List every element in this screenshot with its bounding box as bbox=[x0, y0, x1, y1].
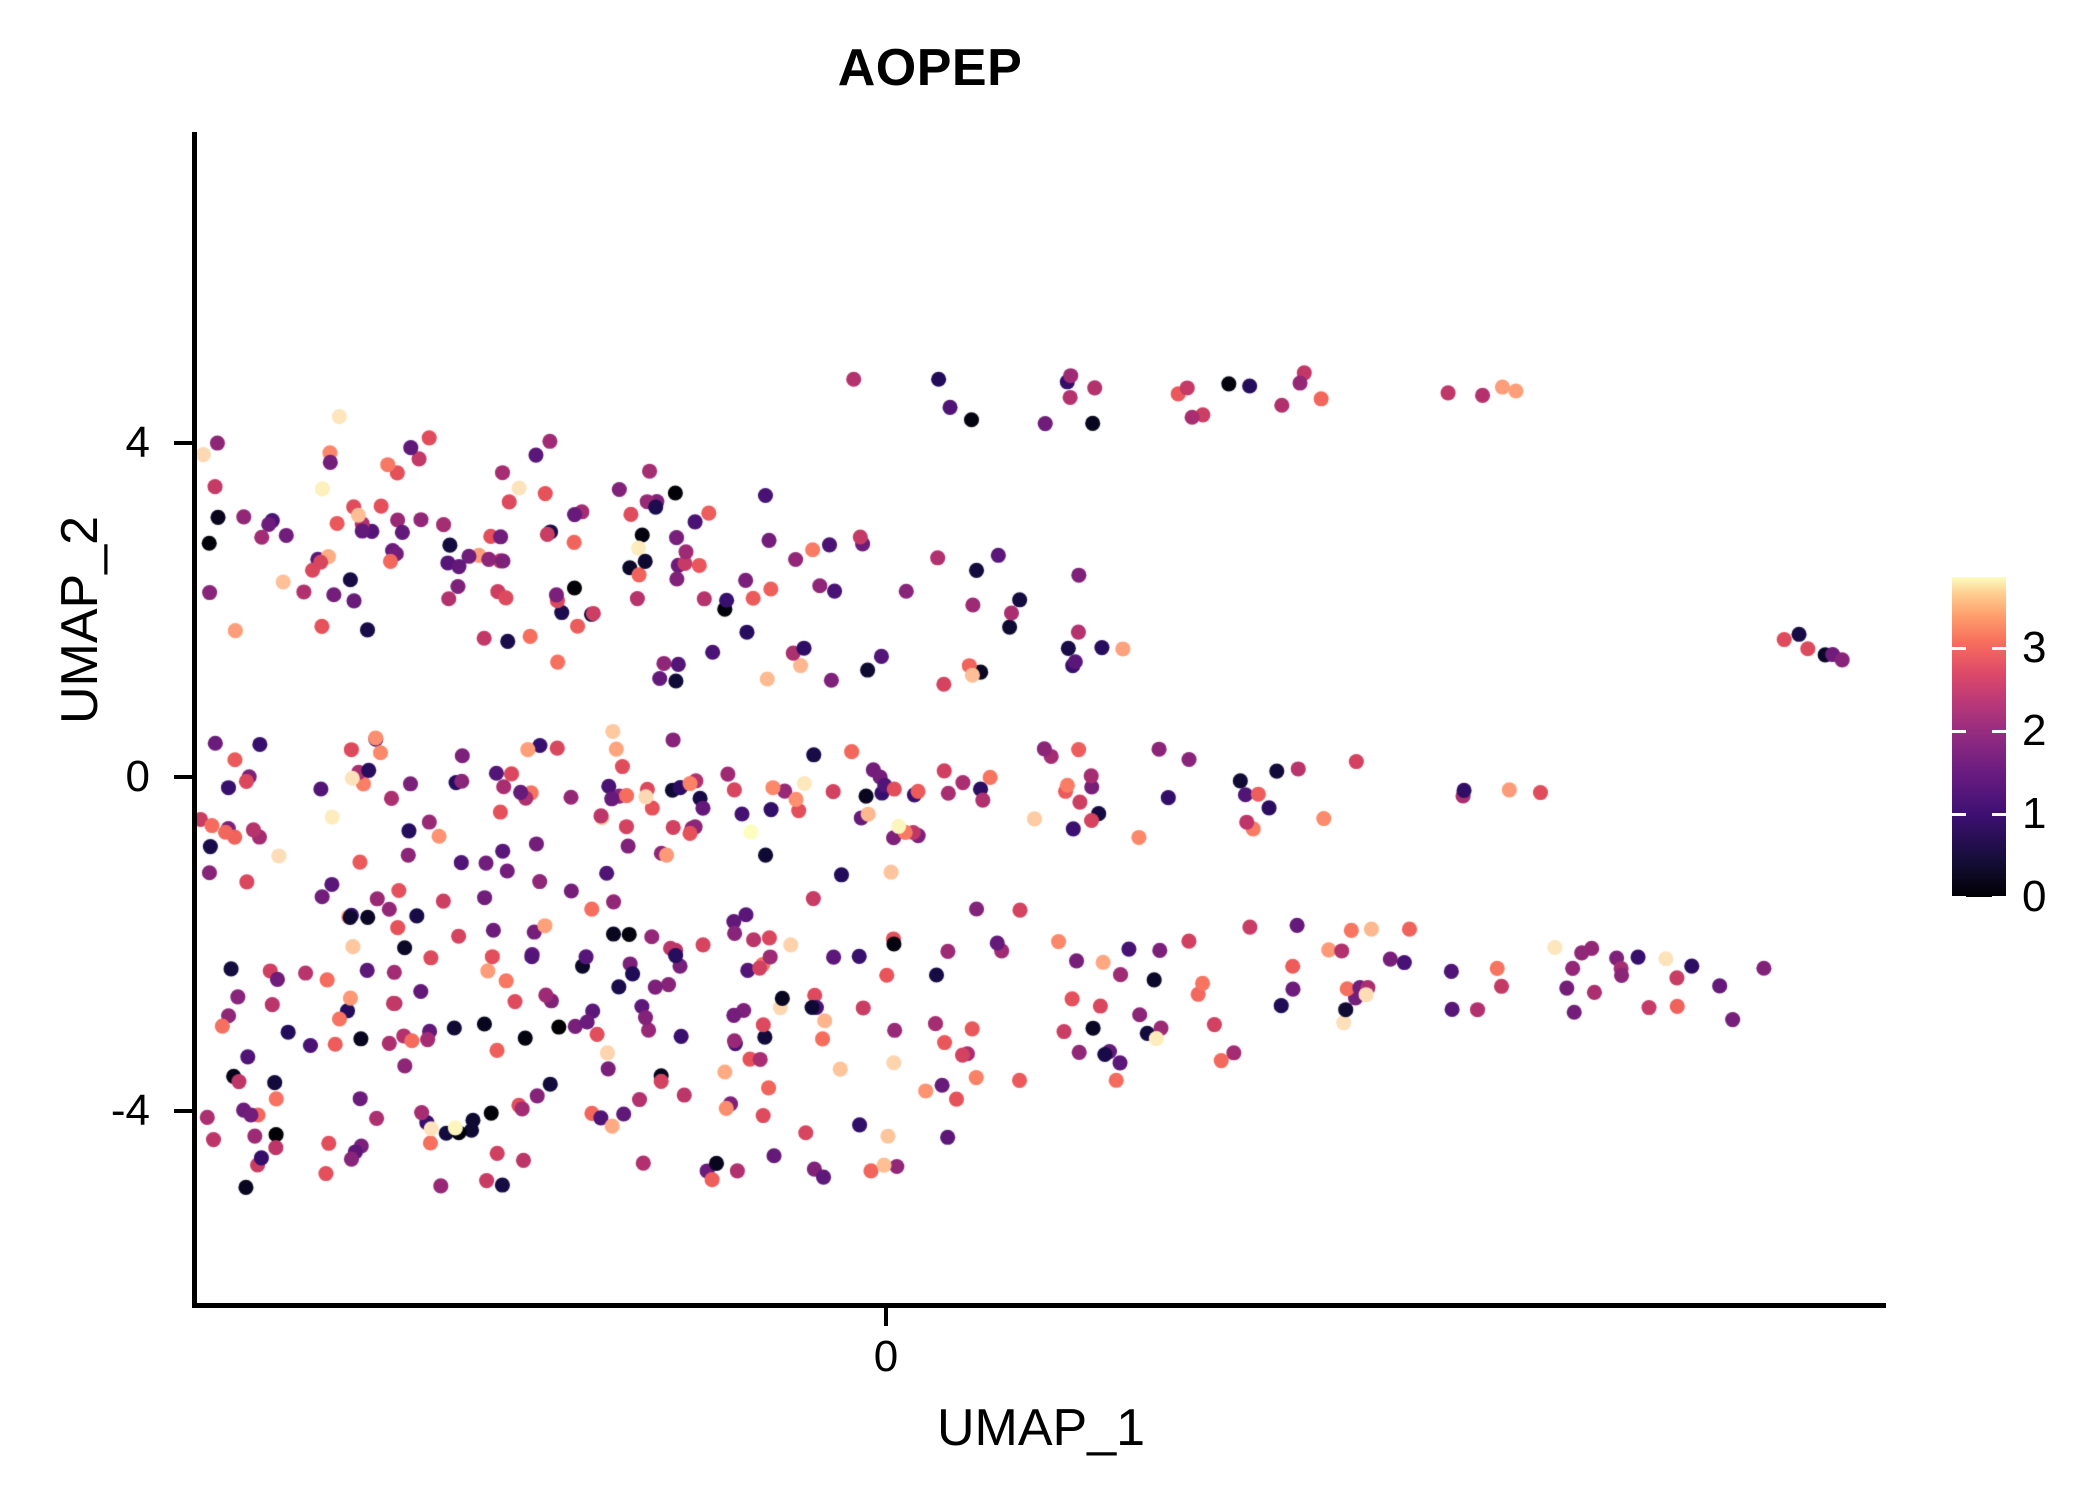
colorbar-tick-mark bbox=[1952, 813, 1966, 816]
y-axis-title: UMAP_2 bbox=[50, 240, 110, 1000]
colorbar-tick-mark bbox=[1992, 813, 2006, 816]
colorbar-tick-mark bbox=[1952, 647, 1966, 650]
x-tick-mark bbox=[884, 1308, 888, 1326]
colorbar-tick-mark bbox=[1992, 896, 2006, 899]
umap-feature-plot: AOPEP -505 40-4 UMAP_1 UMAP_2 3210 bbox=[0, 0, 2100, 1500]
colorbar-tick-mark bbox=[1952, 730, 1966, 733]
colorbar-gradient bbox=[1952, 577, 2006, 897]
x-axis-title: UMAP_1 bbox=[196, 1398, 1886, 1458]
x-tick-label: 0 bbox=[806, 1332, 966, 1382]
y-axis-line bbox=[192, 132, 197, 1308]
colorbar-tick-label: 3 bbox=[2022, 623, 2046, 673]
colorbar-tick-label: 2 bbox=[2022, 706, 2046, 756]
colorbar-tick-mark bbox=[1992, 647, 2006, 650]
colorbar-tick-mark bbox=[1992, 730, 2006, 733]
page-title: AOPEP bbox=[0, 38, 1860, 98]
plot-panel bbox=[196, 132, 1886, 1304]
x-axis-line bbox=[192, 1303, 1886, 1308]
colorbar-tick-label: 0 bbox=[2022, 872, 2046, 922]
y-tick-mark bbox=[174, 441, 192, 445]
y-tick-label: -4 bbox=[0, 1086, 150, 1136]
y-tick-mark bbox=[174, 775, 192, 779]
colorbar-tick-label: 1 bbox=[2022, 789, 2046, 839]
y-tick-mark bbox=[174, 1109, 192, 1113]
colorbar-tick-mark bbox=[1952, 896, 1966, 899]
